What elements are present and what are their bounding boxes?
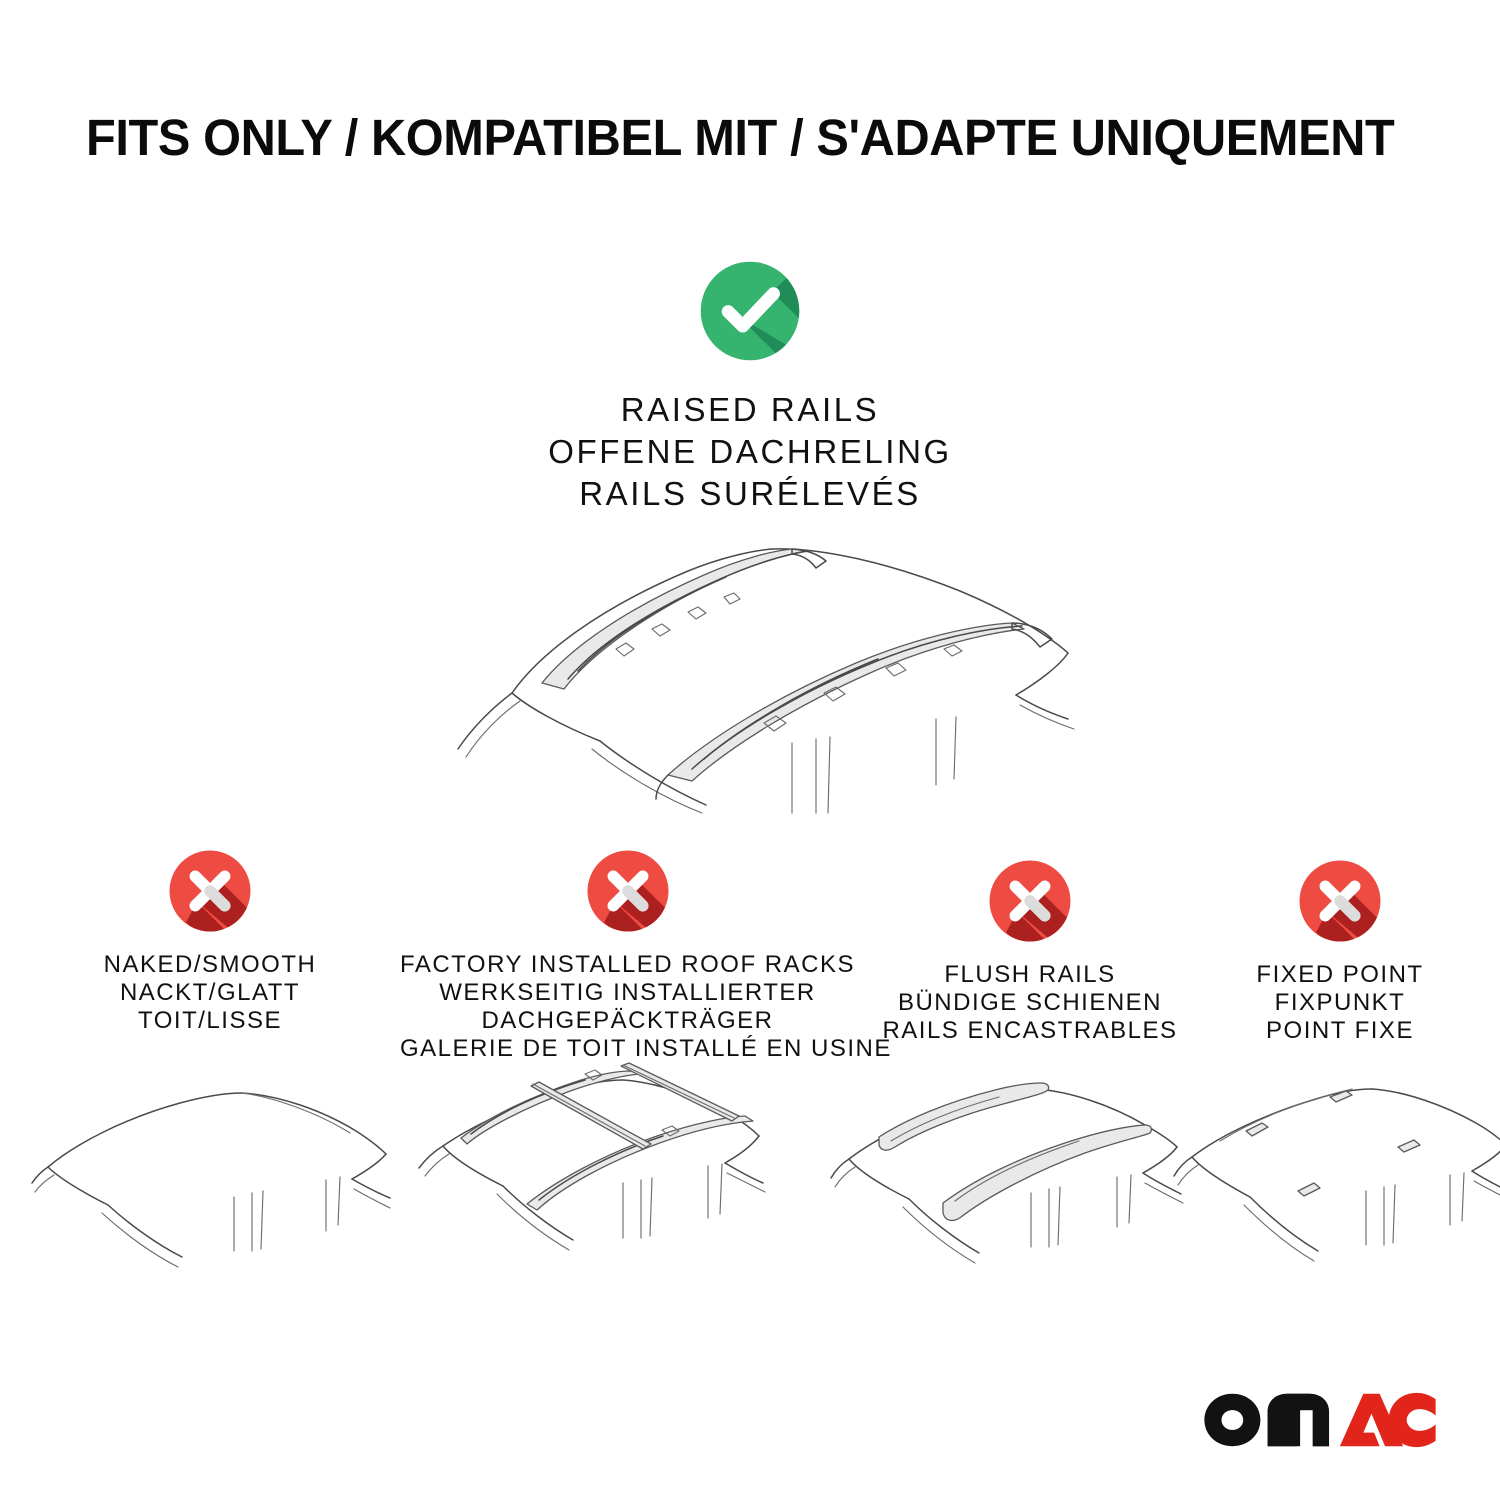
- rejected-label-fr: RAILS ENCASTRABLES: [865, 1017, 1195, 1045]
- car-roof-fixed-point-illustration: [1180, 1075, 1500, 1285]
- rejected-labels: FIXED POINT FIXPUNKT POINT FIXE: [1195, 961, 1485, 1045]
- x-circle-icon: [1294, 855, 1386, 947]
- rejected-labels: NAKED/SMOOTH NACKT/GLATT TOIT/LISSE: [25, 951, 395, 1035]
- rejected-item-factory-roof-racks: FACTORY INSTALLED ROOF RACKS WERKSEITIG …: [400, 845, 855, 1063]
- approved-labels: RAISED RAILS OFFENE DACHRELING RAILS SUR…: [0, 389, 1500, 515]
- car-roof-raised-rails-illustration: [420, 513, 1100, 813]
- x-circle-icon: [582, 845, 674, 937]
- rejected-label-fr: GALERIE DE TOIT INSTALLÉ EN USINE: [400, 1035, 855, 1063]
- approved-label-en: RAISED RAILS: [0, 389, 1500, 431]
- rejected-label-fr: TOIT/LISSE: [25, 1007, 395, 1035]
- rejected-item-flush-rails: FLUSH RAILS BÜNDIGE SCHIENEN RAILS ENCAS…: [865, 855, 1195, 1045]
- approved-label-fr: RAILS SURÉLEVÉS: [0, 473, 1500, 515]
- rejected-label-de-1: WERKSEITIG INSTALLIERTER: [400, 979, 855, 1007]
- rejected-label-de: NACKT/GLATT: [25, 979, 395, 1007]
- rejected-item-fixed-point: FIXED POINT FIXPUNKT POINT FIXE: [1195, 855, 1485, 1045]
- rejected-label-de: BÜNDIGE SCHIENEN: [865, 989, 1195, 1017]
- rejected-label-de: FIXPUNKT: [1195, 989, 1485, 1017]
- car-roof-naked-illustration: [30, 1075, 390, 1285]
- page-title: FITS ONLY / KOMPATIBEL MIT / S'ADAPTE UN…: [86, 108, 1366, 168]
- rejected-labels: FACTORY INSTALLED ROOF RACKS WERKSEITIG …: [400, 951, 855, 1063]
- rejected-label-de-2: DACHGEPÄCKTRÄGER: [400, 1007, 855, 1035]
- rejected-label-en: NAKED/SMOOTH: [25, 951, 395, 979]
- rejected-label-en: FIXED POINT: [1195, 961, 1485, 989]
- approved-section: RAISED RAILS OFFENE DACHRELING RAILS SUR…: [0, 255, 1500, 515]
- car-roof-flush-rails-illustration: [835, 1075, 1185, 1285]
- rejected-label-fr: POINT FIXE: [1195, 1017, 1485, 1045]
- car-roof-factory-racks-illustration: [405, 1068, 775, 1283]
- check-circle-icon: [694, 255, 806, 367]
- x-circle-icon: [984, 855, 1076, 947]
- rejected-label-en: FLUSH RAILS: [865, 961, 1195, 989]
- rejected-label-en: FACTORY INSTALLED ROOF RACKS: [400, 951, 855, 979]
- x-circle-icon: [164, 845, 256, 937]
- rejected-labels: FLUSH RAILS BÜNDIGE SCHIENEN RAILS ENCAS…: [865, 961, 1195, 1045]
- rejected-item-naked-smooth: NAKED/SMOOTH NACKT/GLATT TOIT/LISSE: [25, 845, 395, 1035]
- omac-logo: [1202, 1392, 1438, 1448]
- approved-label-de: OFFENE DACHRELING: [0, 431, 1500, 473]
